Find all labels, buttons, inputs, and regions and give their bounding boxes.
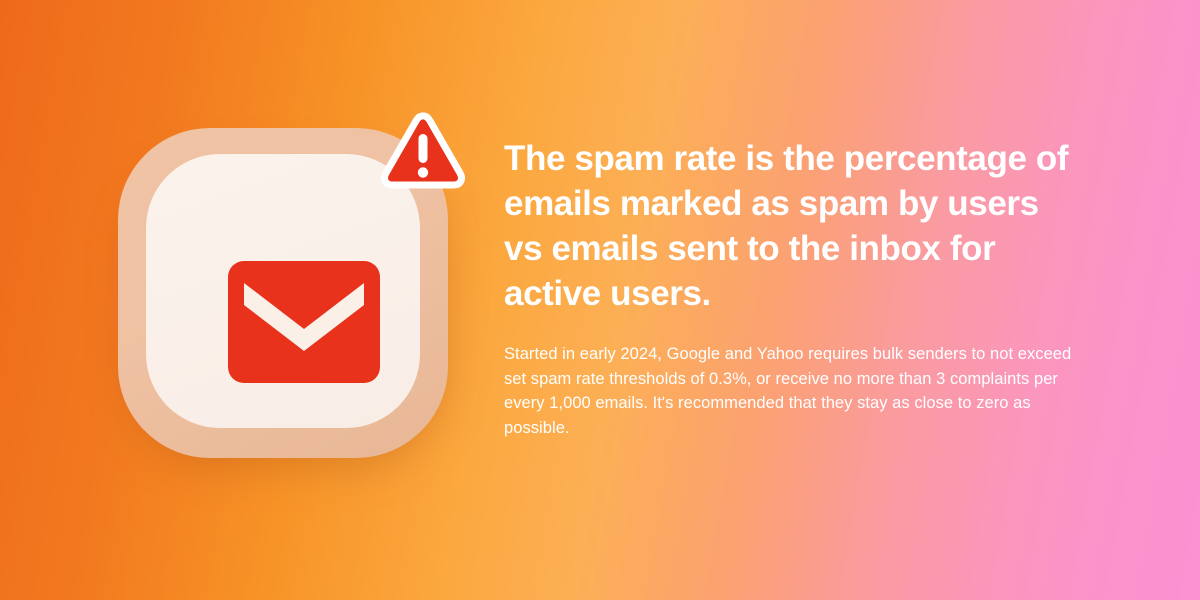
infographic-card: The spam rate is the percentage of email…: [0, 0, 1200, 600]
body-paragraph: Started in early 2024, Google and Yahoo …: [504, 342, 1098, 440]
envelope-flap-shape: [228, 261, 380, 383]
envelope-icon: [228, 261, 380, 383]
headline: The spam rate is the percentage of email…: [504, 136, 1084, 316]
warning-triangle-icon: [378, 110, 468, 198]
text-column: The spam rate is the percentage of email…: [504, 136, 1104, 440]
spam-email-illustration: [118, 128, 448, 458]
